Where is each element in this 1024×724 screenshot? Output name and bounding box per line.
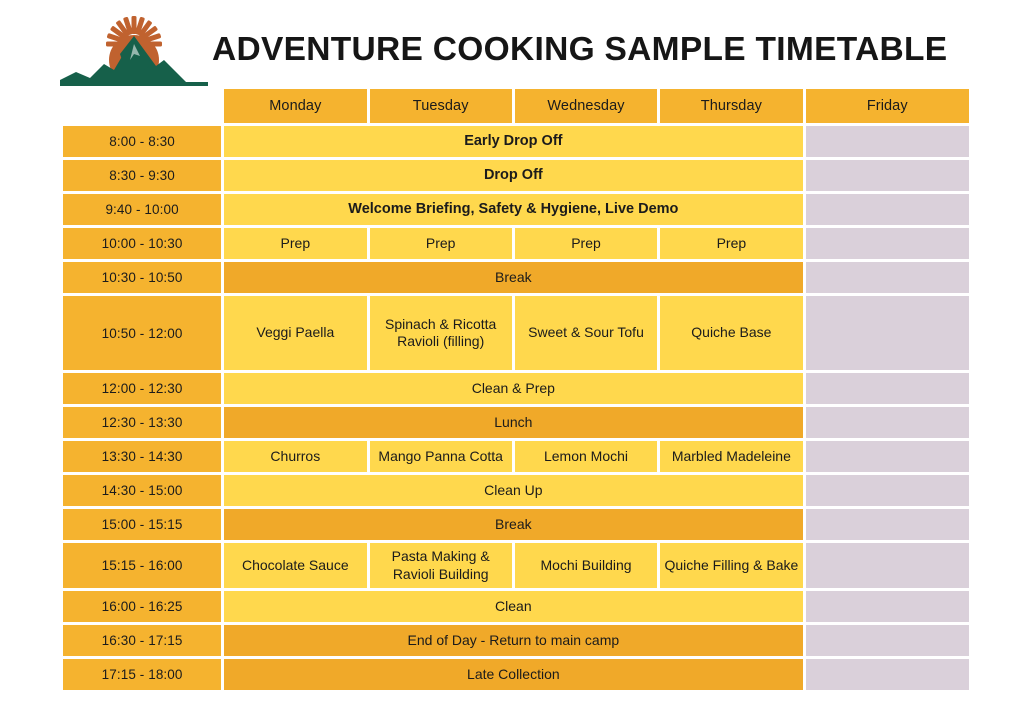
activity-cell-monday: Chocolate Sauce — [224, 543, 366, 588]
activity-cell-friday — [806, 126, 969, 157]
table-row: 8:30 - 9:30Drop Off — [63, 160, 969, 191]
table-row: 16:00 - 16:25Clean — [63, 591, 969, 622]
activity-cell-friday — [806, 160, 969, 191]
activity-cell-friday — [806, 591, 969, 622]
table-row: 9:40 - 10:00Welcome Briefing, Safety & H… — [63, 194, 969, 225]
activity-cell-thursday: Quiche Base — [660, 296, 802, 370]
activity-cell-tuesday: Pasta Making & Ravioli Building — [370, 543, 512, 588]
time-label: 14:30 - 15:00 — [63, 475, 221, 506]
activity-cell-friday — [806, 262, 969, 293]
activity-cell-wednesday: Lemon Mochi — [515, 441, 657, 472]
activity-cell-all-days: Clean Up — [224, 475, 802, 506]
time-label: 12:30 - 13:30 — [63, 407, 221, 438]
activity-cell-all-days: Break — [224, 262, 802, 293]
page-header: ADVENTURE COOKING SAMPLE TIMETABLE — [60, 14, 974, 86]
time-label: 17:15 - 18:00 — [63, 659, 221, 690]
table-row: 10:50 - 12:00Veggi PaellaSpinach & Ricot… — [63, 296, 969, 370]
time-label: 16:00 - 16:25 — [63, 591, 221, 622]
activity-cell-tuesday: Mango Panna Cotta — [370, 441, 512, 472]
activity-cell-thursday: Prep — [660, 228, 802, 259]
table-row: 8:00 - 8:30Early Drop Off — [63, 126, 969, 157]
activity-cell-all-days: Drop Off — [224, 160, 802, 191]
time-label: 12:00 - 12:30 — [63, 373, 221, 404]
activity-cell-friday — [806, 659, 969, 690]
activity-cell-thursday: Marbled Madeleine — [660, 441, 802, 472]
table-header-row: Monday Tuesday Wednesday Thursday Friday — [63, 89, 969, 123]
table-row: 15:00 - 15:15Break — [63, 509, 969, 540]
time-label: 10:30 - 10:50 — [63, 262, 221, 293]
time-label: 15:15 - 16:00 — [63, 543, 221, 588]
table-row: 13:30 - 14:30ChurrosMango Panna CottaLem… — [63, 441, 969, 472]
activity-cell-tuesday: Spinach & Ricotta Ravioli (filling) — [370, 296, 512, 370]
activity-cell-friday — [806, 228, 969, 259]
activity-cell-friday — [806, 296, 969, 370]
activity-cell-wednesday: Mochi Building — [515, 543, 657, 588]
table-row: 12:00 - 12:30Clean & Prep — [63, 373, 969, 404]
timetable-page: ADVENTURE COOKING SAMPLE TIMETABLE Monda… — [0, 0, 1024, 724]
activity-cell-thursday: Quiche Filling & Bake — [660, 543, 802, 588]
activity-cell-all-days: Late Collection — [224, 659, 802, 690]
activity-cell-friday — [806, 509, 969, 540]
table-row: 16:30 - 17:15End of Day - Return to main… — [63, 625, 969, 656]
activity-cell-wednesday: Prep — [515, 228, 657, 259]
time-label: 15:00 - 15:15 — [63, 509, 221, 540]
activity-cell-all-days: End of Day - Return to main camp — [224, 625, 802, 656]
activity-cell-friday — [806, 441, 969, 472]
activity-cell-monday: Prep — [224, 228, 366, 259]
activity-cell-all-days: Early Drop Off — [224, 126, 802, 157]
column-header-wednesday: Wednesday — [515, 89, 657, 123]
activity-cell-all-days: Clean & Prep — [224, 373, 802, 404]
activity-cell-all-days: Welcome Briefing, Safety & Hygiene, Live… — [224, 194, 802, 225]
activity-cell-friday — [806, 407, 969, 438]
activity-cell-tuesday: Prep — [370, 228, 512, 259]
corner-cell — [63, 89, 221, 123]
table-row: 15:15 - 16:00Chocolate SaucePasta Making… — [63, 543, 969, 588]
time-label: 8:00 - 8:30 — [63, 126, 221, 157]
table-row: 14:30 - 15:00Clean Up — [63, 475, 969, 506]
timetable-body: 8:00 - 8:30Early Drop Off8:30 - 9:30Drop… — [63, 126, 969, 690]
activity-cell-all-days: Clean — [224, 591, 802, 622]
table-row: 10:30 - 10:50Break — [63, 262, 969, 293]
time-label: 10:50 - 12:00 — [63, 296, 221, 370]
column-header-thursday: Thursday — [660, 89, 802, 123]
column-header-friday: Friday — [806, 89, 969, 123]
table-row: 12:30 - 13:30Lunch — [63, 407, 969, 438]
activity-cell-monday: Veggi Paella — [224, 296, 366, 370]
activity-cell-friday — [806, 194, 969, 225]
sun-over-mountains-logo — [60, 14, 208, 86]
activity-cell-friday — [806, 543, 969, 588]
activity-cell-all-days: Lunch — [224, 407, 802, 438]
table-row: 10:00 - 10:30PrepPrepPrepPrep — [63, 228, 969, 259]
column-header-tuesday: Tuesday — [370, 89, 512, 123]
activity-cell-friday — [806, 625, 969, 656]
column-header-monday: Monday — [224, 89, 366, 123]
time-label: 9:40 - 10:00 — [63, 194, 221, 225]
time-label: 10:00 - 10:30 — [63, 228, 221, 259]
time-label: 16:30 - 17:15 — [63, 625, 221, 656]
time-label: 8:30 - 9:30 — [63, 160, 221, 191]
activity-cell-all-days: Break — [224, 509, 802, 540]
page-title: ADVENTURE COOKING SAMPLE TIMETABLE — [208, 33, 974, 67]
table-row: 17:15 - 18:00Late Collection — [63, 659, 969, 690]
activity-cell-monday: Churros — [224, 441, 366, 472]
activity-cell-friday — [806, 373, 969, 404]
timetable-grid: Monday Tuesday Wednesday Thursday Friday… — [60, 86, 972, 693]
activity-cell-wednesday: Sweet & Sour Tofu — [515, 296, 657, 370]
activity-cell-friday — [806, 475, 969, 506]
time-label: 13:30 - 14:30 — [63, 441, 221, 472]
